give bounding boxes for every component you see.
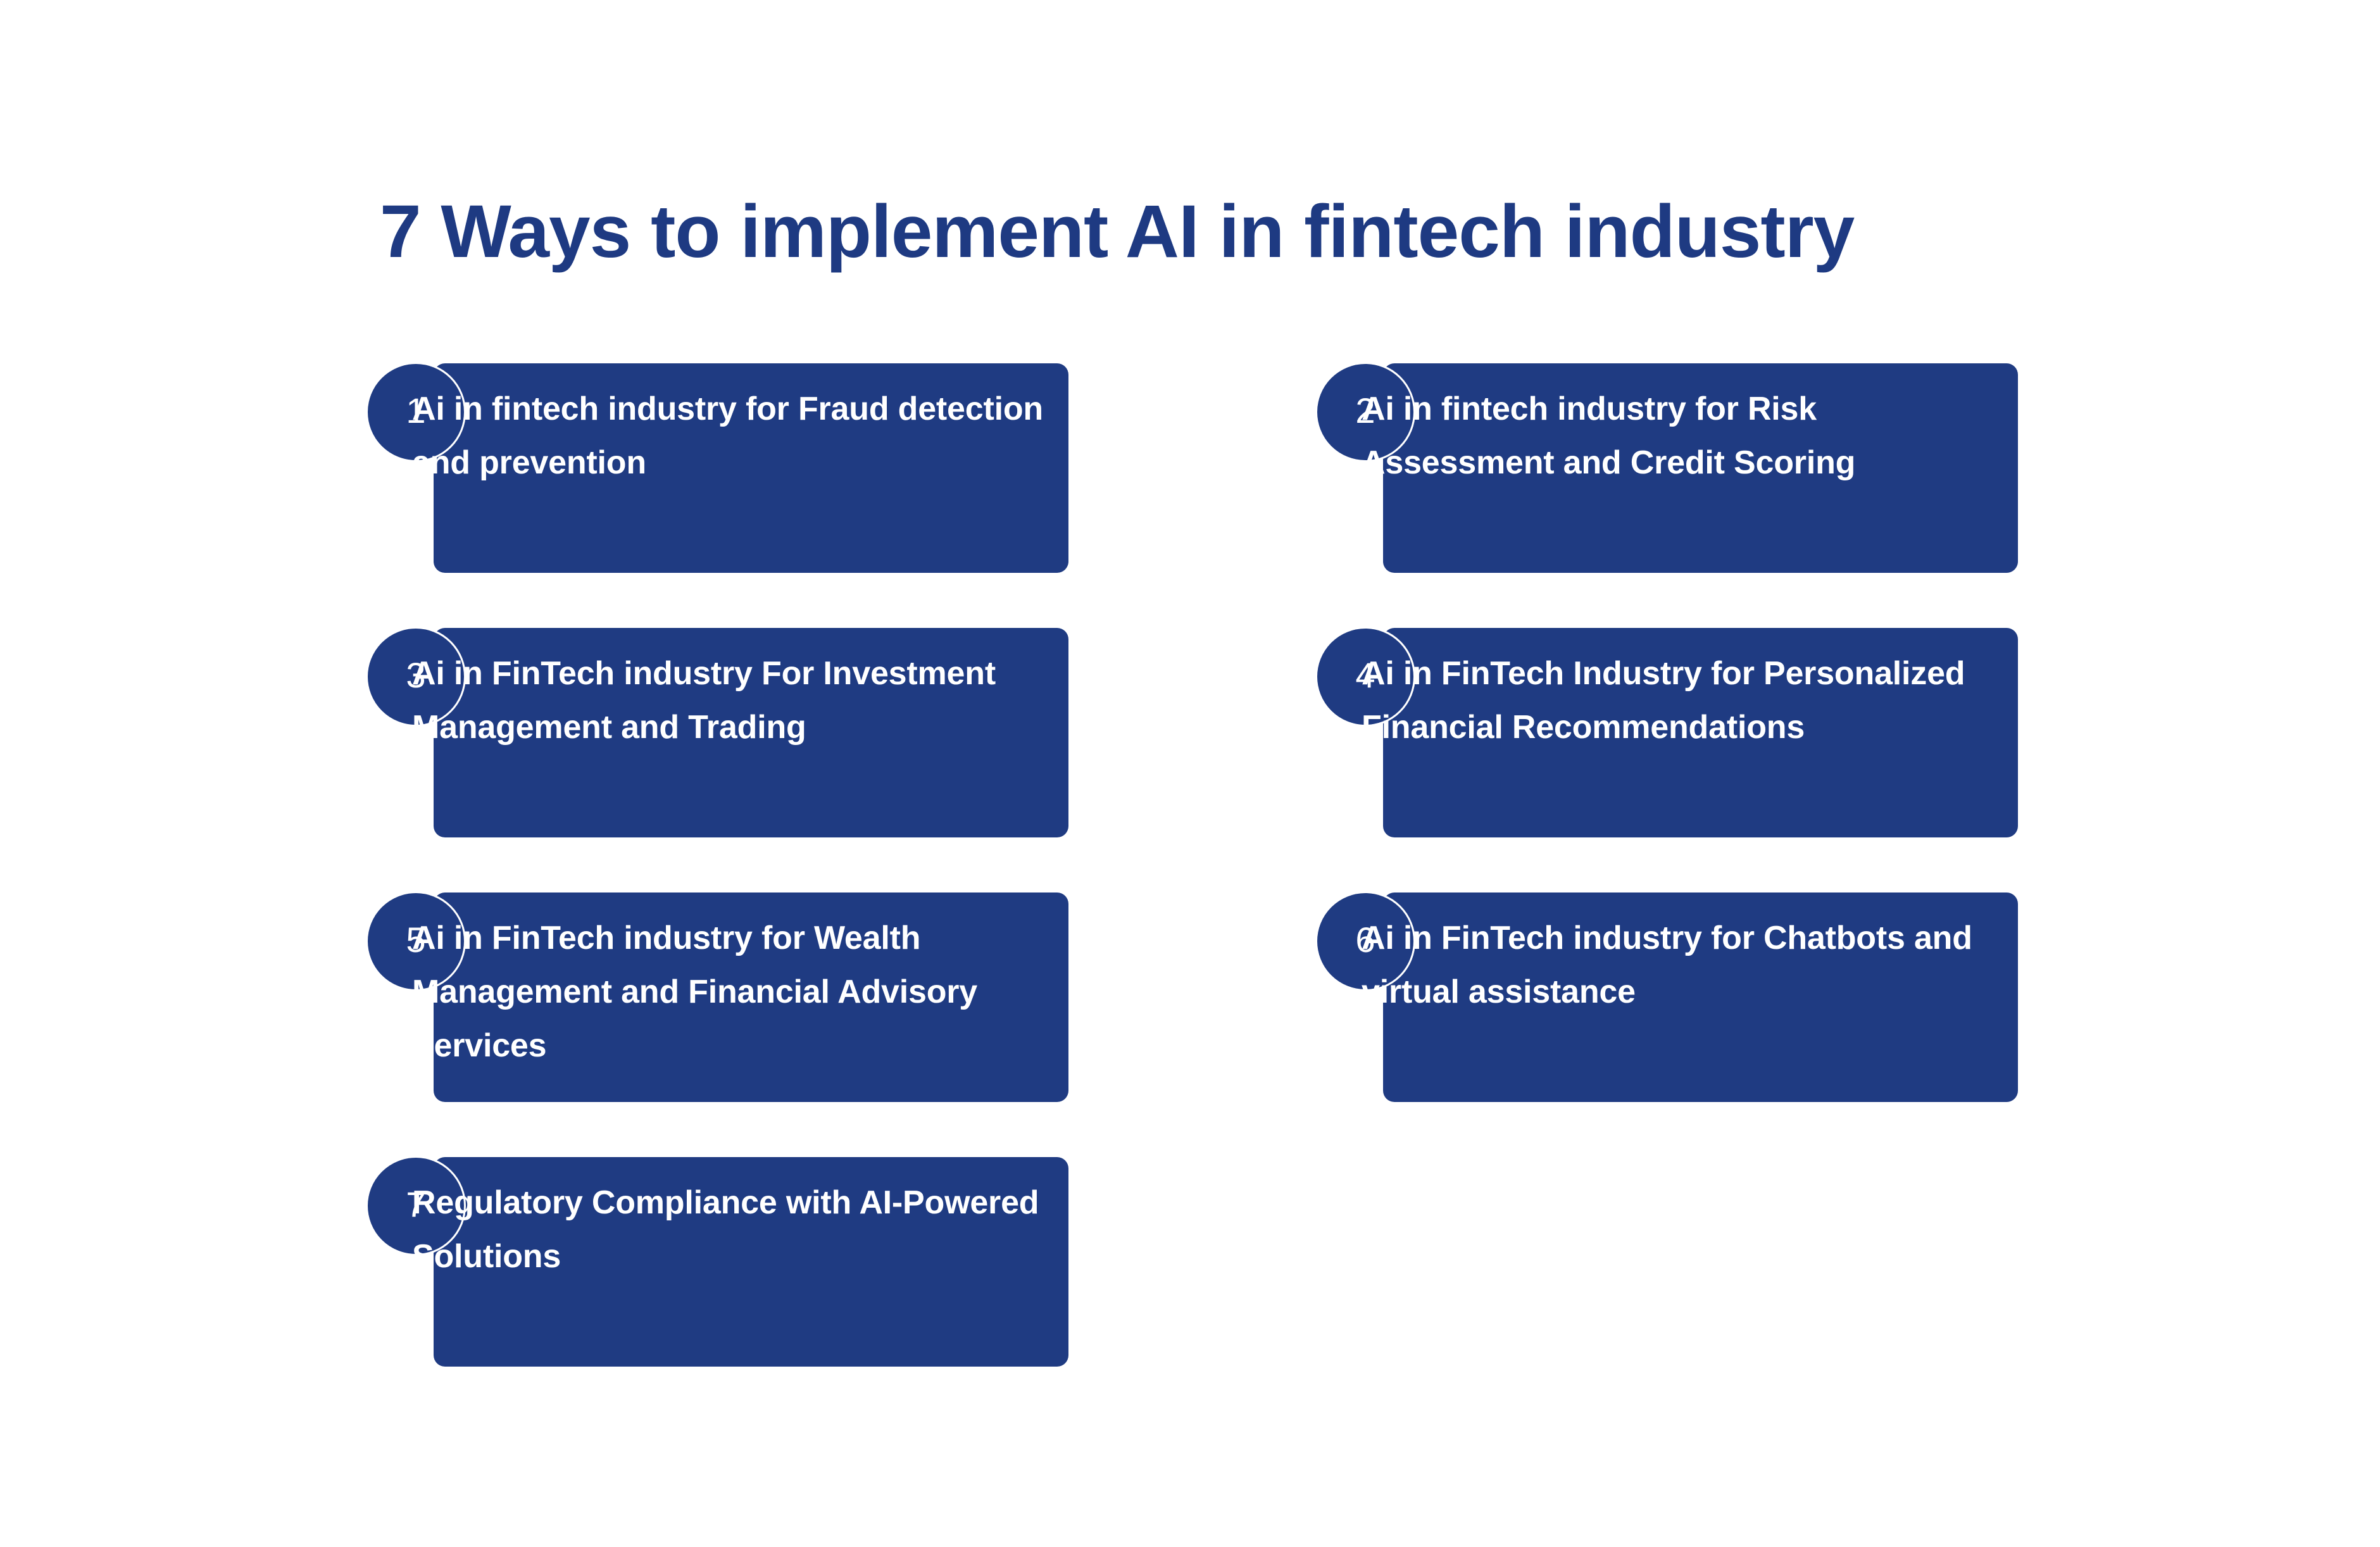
infographic-canvas: 7 Ways to implement AI in fintech indust… bbox=[0, 0, 2380, 1547]
card-text-6: Ai in FinTech industry for Chatbots and … bbox=[1362, 911, 1993, 1019]
numbered-card-4[interactable]: 4 Ai in FinTech Industry for Personalize… bbox=[1315, 627, 2018, 837]
card-text-5: Ai in FinTech industry for Wealth Manage… bbox=[412, 911, 1043, 1073]
numbered-card-2[interactable]: 2 Ai in fintech industry for Risk Assess… bbox=[1315, 362, 2018, 573]
numbered-card-1[interactable]: 1 Ai in fintech industry for Fraud detec… bbox=[366, 362, 1068, 573]
card-text-2: Ai in fintech industry for Risk Assessme… bbox=[1362, 382, 1993, 490]
card-text-7: Regulatory Compliance with AI-Powered So… bbox=[412, 1176, 1043, 1284]
card-text-1: Ai in fintech industry for Fraud detecti… bbox=[412, 382, 1043, 490]
numbered-card-3[interactable]: 3 Ai in FinTech industry For Investment … bbox=[366, 627, 1068, 837]
numbered-card-5[interactable]: 5 Ai in FinTech industry for Wealth Mana… bbox=[366, 891, 1068, 1102]
numbered-card-6[interactable]: 6 Ai in FinTech industry for Chatbots an… bbox=[1315, 891, 2018, 1102]
card-text-4: Ai in FinTech Industry for Personalized … bbox=[1362, 647, 1993, 755]
numbered-card-7[interactable]: 7 Regulatory Compliance with AI-Powered … bbox=[366, 1156, 1068, 1367]
numbered-card-grid: 1 Ai in fintech industry for Fraud detec… bbox=[366, 362, 2037, 1367]
page-title: 7 Ways to implement AI in fintech indust… bbox=[380, 194, 1854, 269]
card-text-3: Ai in FinTech industry For Investment Ma… bbox=[412, 647, 1043, 755]
